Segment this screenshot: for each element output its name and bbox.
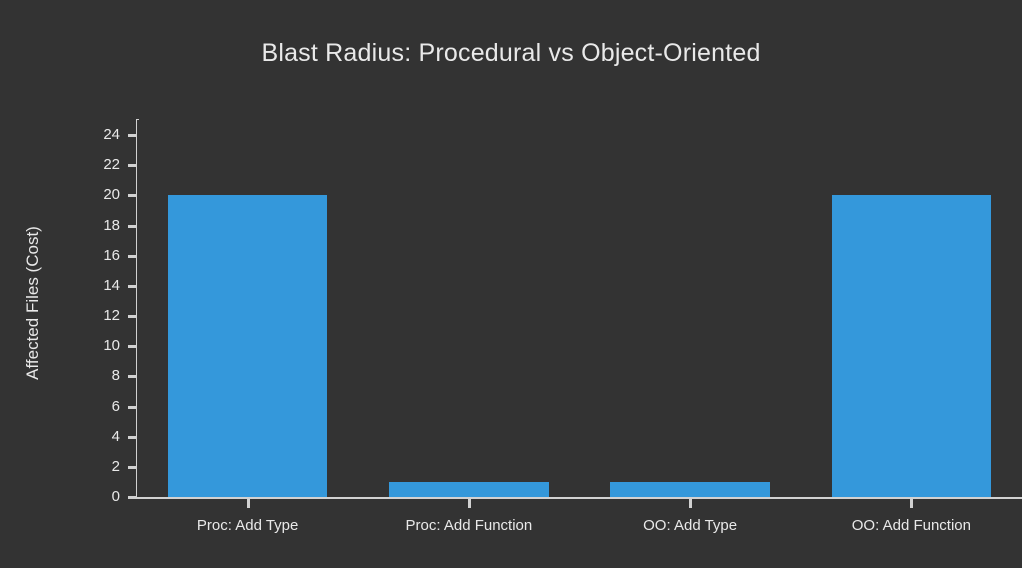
x-tick-label: Proc: Add Function bbox=[356, 516, 582, 535]
y-tick-label: 8 bbox=[112, 366, 120, 385]
y-tick-label: 10 bbox=[103, 336, 120, 355]
y-tick-mark bbox=[128, 194, 137, 197]
y-tick-label: 16 bbox=[103, 246, 120, 265]
y-tick-mark bbox=[128, 375, 137, 378]
y-tick-mark bbox=[128, 134, 137, 137]
y-tick-label: 4 bbox=[112, 427, 120, 446]
y-tick-mark bbox=[128, 164, 137, 167]
y-tick-mark bbox=[128, 285, 137, 288]
y-tick-label: 18 bbox=[103, 216, 120, 235]
chart-figure: Blast Radius: Procedural vs Object-Orien… bbox=[0, 0, 1022, 568]
y-tick-label: 2 bbox=[112, 457, 120, 476]
y-tick-mark bbox=[128, 466, 137, 469]
plot-area bbox=[137, 120, 1022, 497]
y-tick-label: 24 bbox=[103, 125, 120, 144]
y-tick-mark bbox=[128, 496, 137, 499]
x-tick-label: OO: Add Type bbox=[577, 516, 803, 535]
y-tick-label: 22 bbox=[103, 155, 120, 174]
y-tick-mark bbox=[128, 255, 137, 258]
x-tick-label: OO: Add Function bbox=[798, 516, 1022, 535]
y-tick-mark bbox=[128, 345, 137, 348]
y-tick-label: 0 bbox=[112, 487, 120, 506]
bar bbox=[610, 482, 769, 497]
y-tick-label: 12 bbox=[103, 306, 120, 325]
y-tick-mark bbox=[128, 436, 137, 439]
x-tick-label: Proc: Add Type bbox=[135, 516, 361, 535]
y-tick-mark bbox=[128, 315, 137, 318]
y-tick-label: 6 bbox=[112, 397, 120, 416]
y-tick-mark bbox=[128, 225, 137, 228]
y-tick-label: 14 bbox=[103, 276, 120, 295]
x-tick-mark bbox=[689, 499, 692, 508]
x-tick-mark bbox=[910, 499, 913, 508]
x-tick-mark bbox=[468, 499, 471, 508]
bar bbox=[832, 195, 991, 497]
y-tick-label: 20 bbox=[103, 185, 120, 204]
bar bbox=[389, 482, 548, 497]
bar bbox=[168, 195, 327, 497]
x-tick-mark bbox=[247, 499, 250, 508]
y-tick-mark bbox=[128, 406, 137, 409]
chart-title: Blast Radius: Procedural vs Object-Orien… bbox=[0, 38, 1022, 68]
y-axis-label: Affected Files (Cost) bbox=[23, 153, 43, 453]
